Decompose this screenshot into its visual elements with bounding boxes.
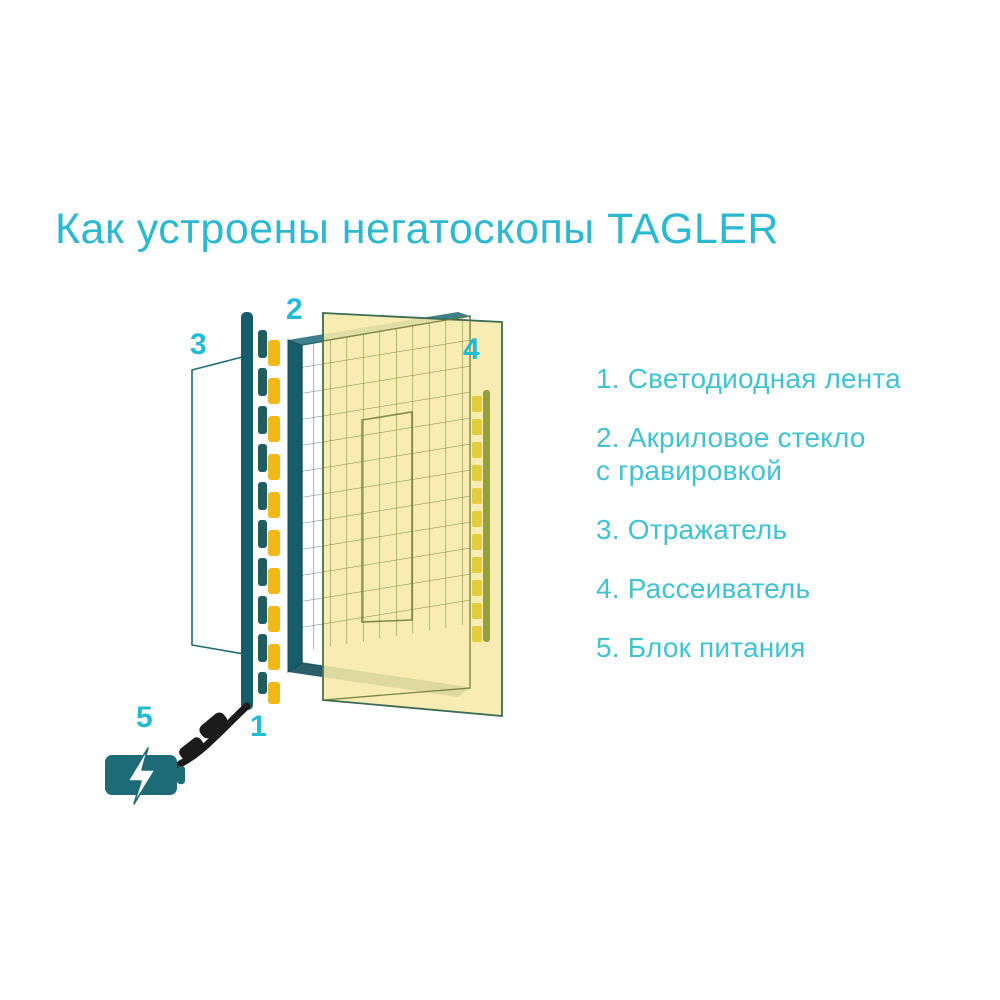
led-strip-left: [241, 312, 280, 710]
infographic-page: Как устроены негатоскопы TAGLER: [0, 0, 1000, 1000]
legend-item-3: 3. Отражатель: [596, 513, 976, 546]
legend-item-2: 2. Акриловое стекло с гравировкой: [596, 421, 976, 487]
legend-item-5: 5. Блок питания: [596, 631, 976, 664]
callout-5: 5: [136, 703, 153, 733]
callout-1: 1: [250, 712, 267, 742]
led-strip-right: [472, 390, 490, 642]
legend-list: 1. Светодиодная лента 2. Акриловое стекл…: [596, 362, 976, 664]
legend-item-4: 4. Рассеиватель: [596, 572, 976, 605]
callout-2: 2: [286, 295, 303, 325]
legend-item-1: 1. Светодиодная лента: [596, 362, 976, 395]
callout-4: 4: [463, 335, 480, 365]
power-supply-block: [105, 748, 185, 804]
led-chips: [268, 340, 280, 704]
callout-3: 3: [190, 330, 207, 360]
